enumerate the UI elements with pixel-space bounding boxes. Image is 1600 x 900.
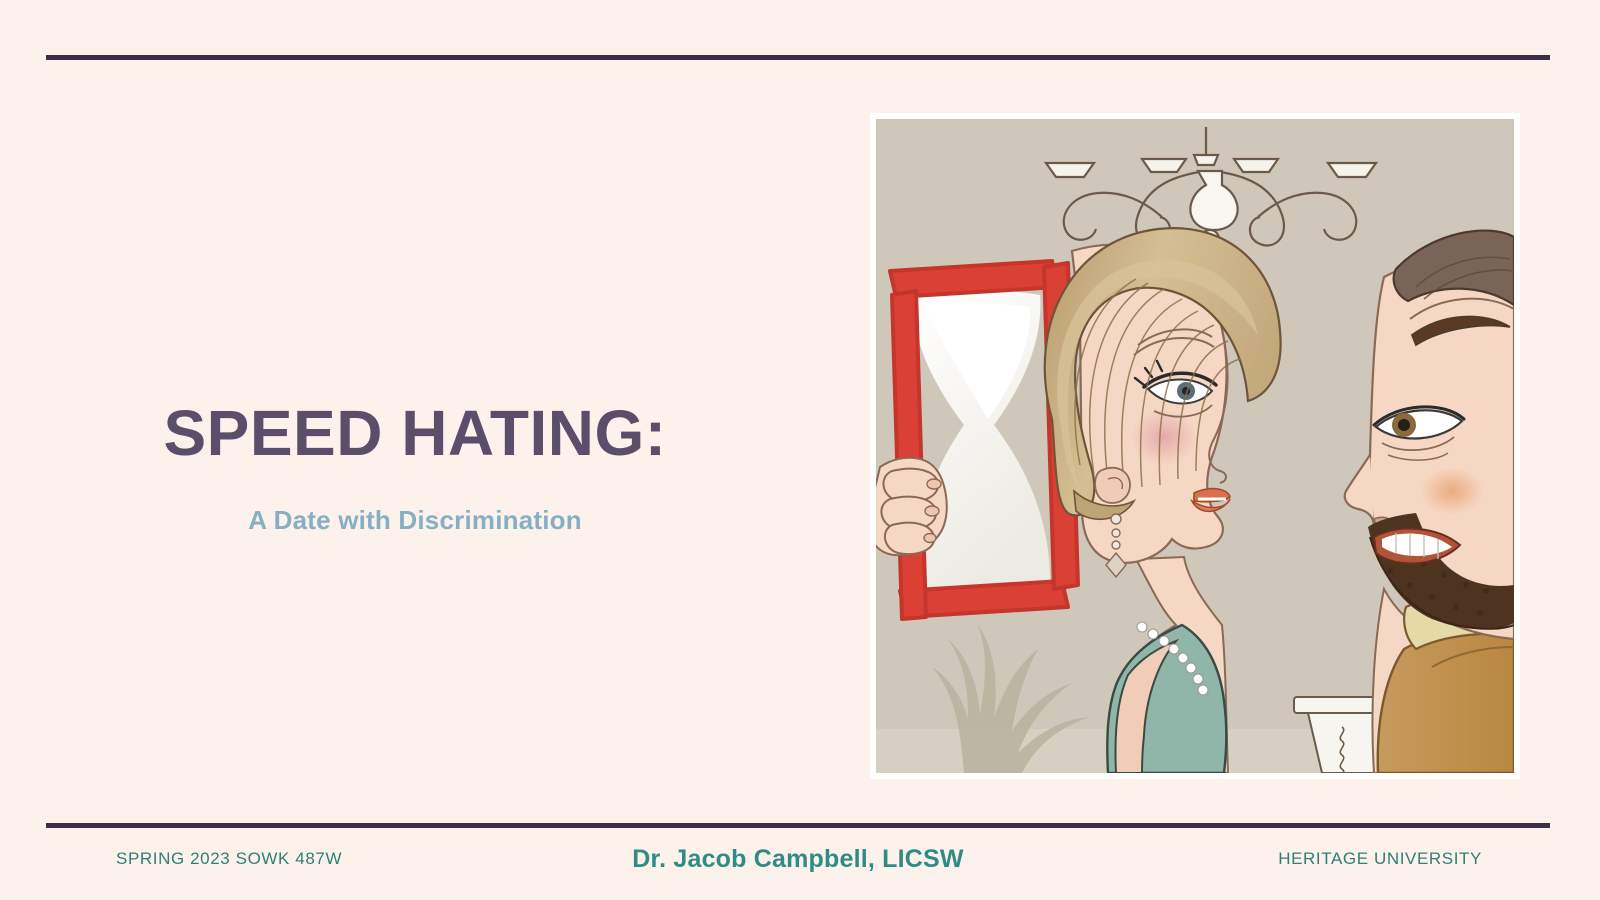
title-block: SPEED HATING: A Date with Discrimination xyxy=(0,400,830,536)
footer-course-info: SPRING 2023 SOWK 487W xyxy=(46,849,542,869)
ear xyxy=(1095,468,1130,503)
illustration-frame xyxy=(870,113,1520,779)
top-divider-rule xyxy=(46,55,1550,60)
slide-footer: SPRING 2023 SOWK 487W Dr. Jacob Campbell… xyxy=(46,828,1550,890)
footer-institution: HERITAGE UNIVERSITY xyxy=(1054,849,1550,869)
illustration-artwork xyxy=(876,119,1514,773)
presentation-slide: SPEED HATING: A Date with Discrimination xyxy=(0,0,1600,900)
hourglass-icon xyxy=(876,261,1078,619)
blush xyxy=(1420,467,1484,515)
page-subtitle: A Date with Discrimination xyxy=(0,505,830,536)
page-title: SPEED HATING: xyxy=(0,400,830,467)
footer-presenter-name: Dr. Jacob Campbell, LICSW xyxy=(542,845,1053,874)
